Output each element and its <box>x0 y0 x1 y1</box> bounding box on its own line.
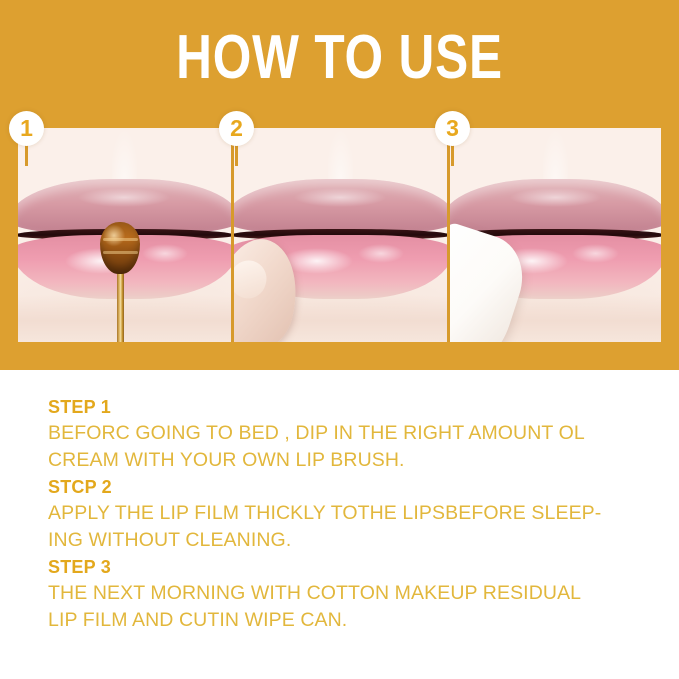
step-badge-1: 1 <box>9 111 44 146</box>
step-1-body: BEFORC GOING TO BED , DIP IN THE RIGHT A… <box>48 420 668 474</box>
how-to-use-infographic: HOW TO USE <box>0 0 679 679</box>
philtrum-highlight <box>328 128 354 184</box>
step-badge-2: 2 <box>219 111 254 146</box>
upper-lip <box>234 179 447 235</box>
chin-area <box>18 295 231 342</box>
step-photo-1 <box>18 128 231 342</box>
page-title: HOW TO USE <box>68 24 611 92</box>
lip-gloss-highlight-secondary <box>572 244 618 263</box>
fingernail-icon <box>234 257 271 302</box>
upper-lip <box>450 179 661 235</box>
instructions-list: STEP 1 BEFORC GOING TO BED , DIP IN THE … <box>48 394 668 634</box>
philtrum-highlight <box>543 128 568 184</box>
lip-gloss-highlight-secondary <box>358 244 405 263</box>
step-3-body: THE NEXT MORNING WITH COTTON MAKEUP RESI… <box>48 580 668 634</box>
step-photo-3 <box>450 128 661 342</box>
step-3-title: STEP 3 <box>48 554 668 580</box>
instruction-block-2: STCP 2 APPLY THE LIP FILM THICKLY TOTHE … <box>48 474 668 554</box>
step-2-title: STCP 2 <box>48 474 668 500</box>
applicator-handle-icon <box>117 269 124 342</box>
philtrum-highlight <box>112 128 138 184</box>
instruction-block-3: STEP 3 THE NEXT MORNING WITH COTTON MAKE… <box>48 554 668 634</box>
lip-gloss-highlight-secondary <box>142 244 189 263</box>
instruction-block-1: STEP 1 BEFORC GOING TO BED , DIP IN THE … <box>48 394 668 474</box>
step-1-title: STEP 1 <box>48 394 668 420</box>
step-photo-2 <box>234 128 447 342</box>
step-2-body: APPLY THE LIP FILM THICKLY TOTHE LIPSBEF… <box>48 500 668 554</box>
step-photo-strip <box>18 128 661 342</box>
step-badge-3: 3 <box>435 111 470 146</box>
